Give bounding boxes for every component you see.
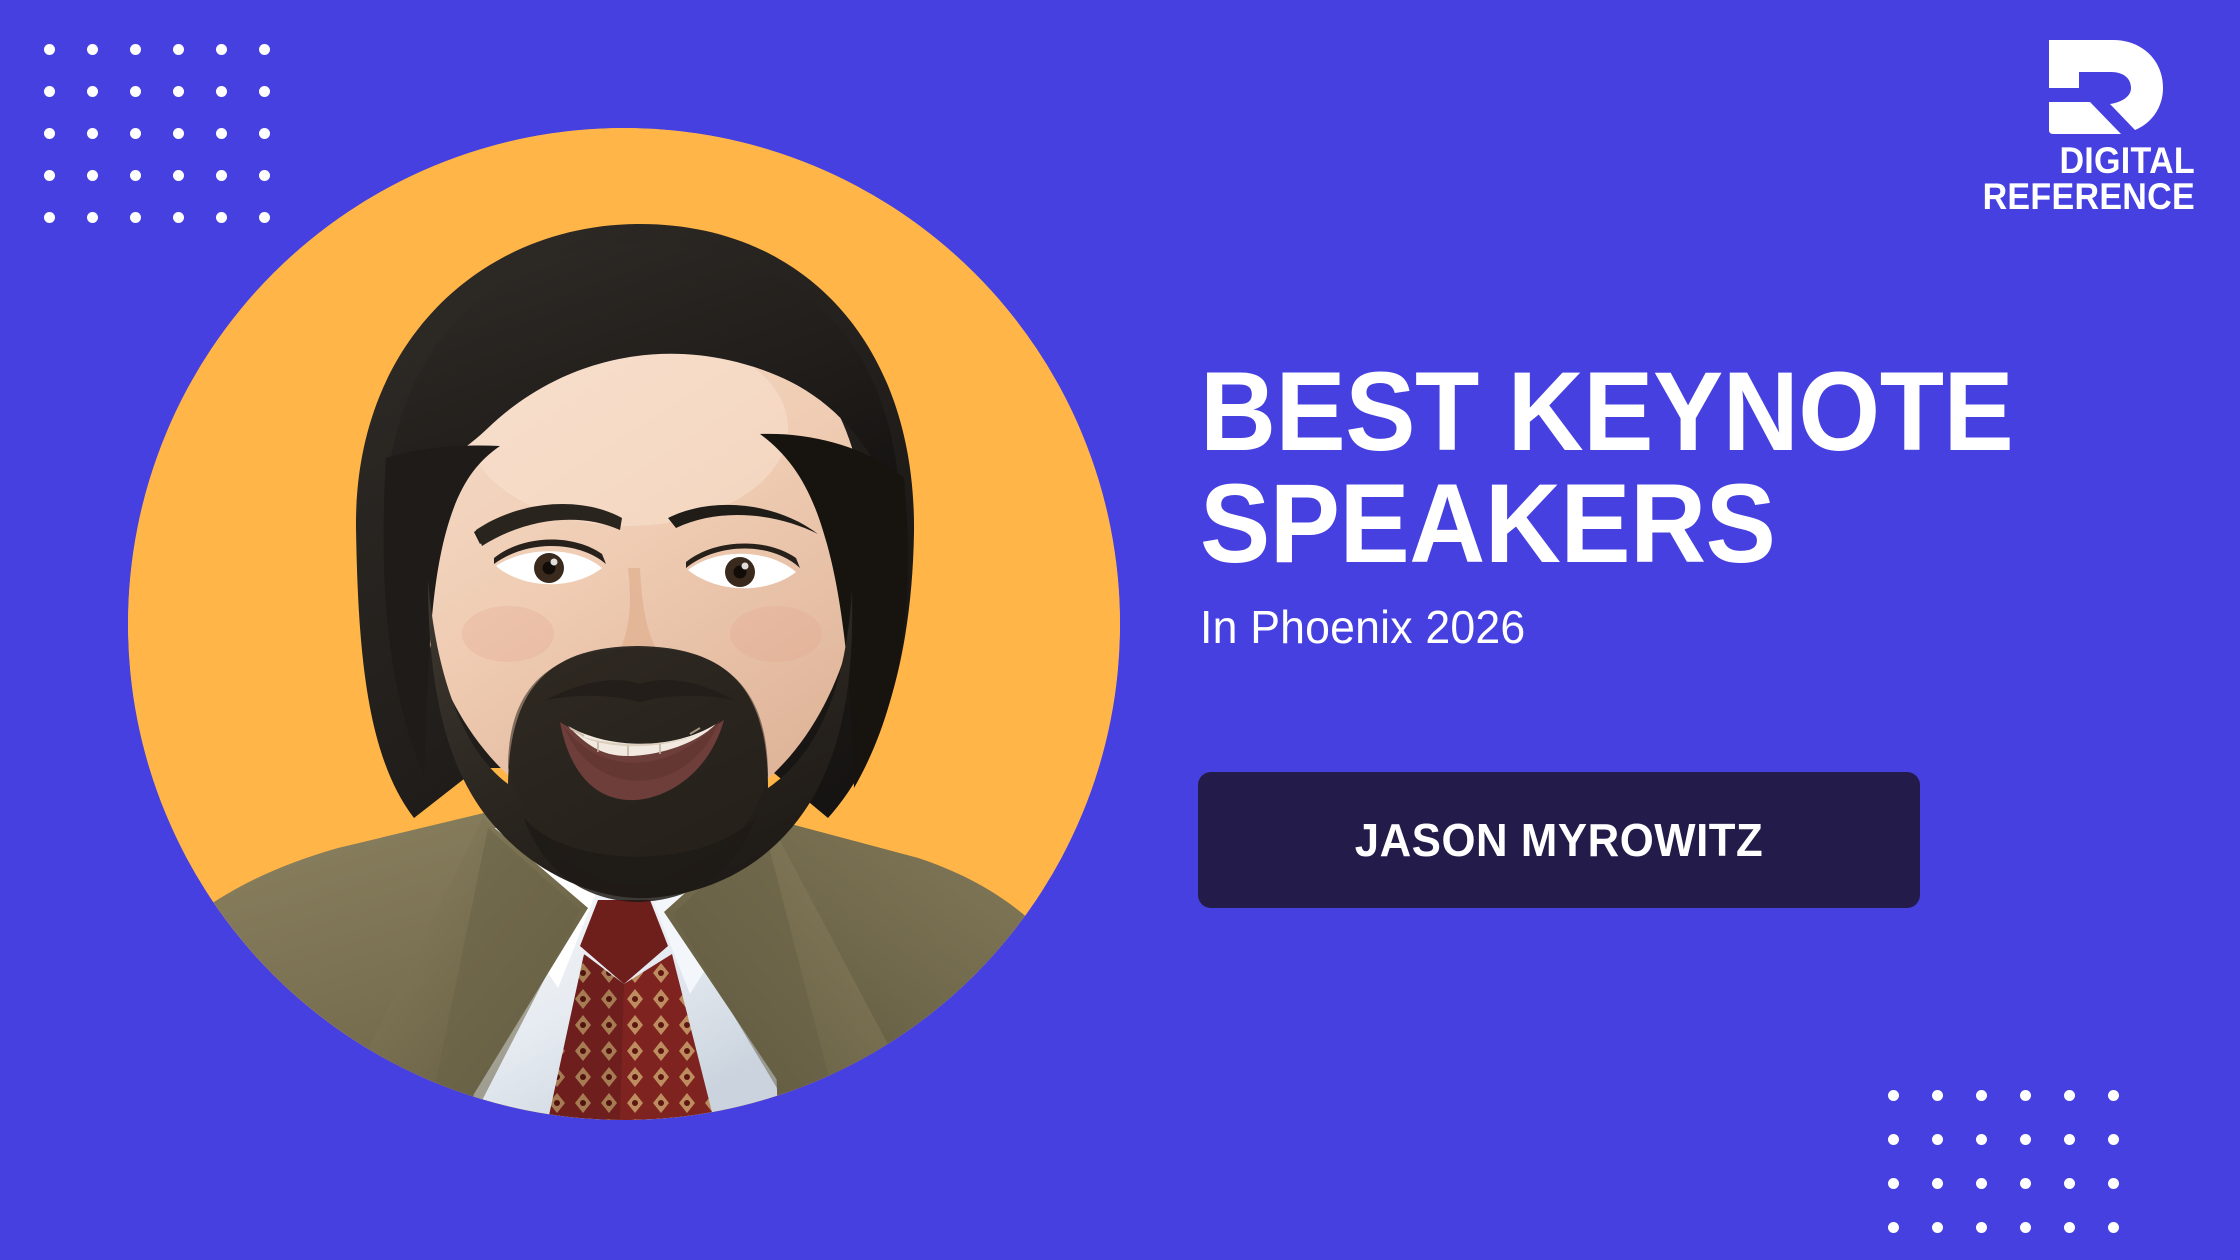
decorative-dot [87, 44, 98, 55]
decorative-dot [44, 44, 55, 55]
decorative-dot [2108, 1178, 2119, 1189]
decorative-dot [1976, 1222, 1987, 1233]
decorative-dot [2108, 1222, 2119, 1233]
speaker-name-badge[interactable]: JASON MYROWITZ [1198, 772, 1920, 908]
brand-wordmark-line-1: DIGITAL [2059, 140, 2195, 181]
decorative-dot [1888, 1090, 1899, 1101]
decorative-dot [259, 86, 270, 97]
decorative-dot [87, 86, 98, 97]
decorative-dot [44, 212, 55, 223]
decorative-dot [2108, 1134, 2119, 1145]
decorative-dot [1932, 1090, 1943, 1101]
brand-wordmark: DIGITAL REFERENCE [1965, 143, 2195, 215]
decorative-dot-grid-bottom-right [1888, 1090, 2152, 1260]
speaker-name-label: JASON MYROWITZ [1355, 813, 1764, 867]
decorative-dot [130, 44, 141, 55]
page-title: BEST KEYNOTE SPEAKERS [1200, 356, 2121, 580]
decorative-dot [2064, 1134, 2075, 1145]
brand-wordmark-line-2: REFERENCE [1965, 179, 2195, 215]
decorative-dot [1976, 1134, 1987, 1145]
decorative-dot [44, 170, 55, 181]
decorative-dot [2020, 1134, 2031, 1145]
decorative-dot [1932, 1222, 1943, 1233]
decorative-dot [2064, 1090, 2075, 1101]
decorative-dot [1888, 1134, 1899, 1145]
decorative-dot [2020, 1090, 2031, 1101]
decorative-dot [1932, 1178, 1943, 1189]
decorative-dot [2064, 1222, 2075, 1233]
decorative-dot [173, 44, 184, 55]
decorative-dot [2064, 1178, 2075, 1189]
decorative-dot [87, 128, 98, 139]
decorative-dot [2108, 1090, 2119, 1101]
brand-logo[interactable]: DIGITAL REFERENCE [1945, 38, 2195, 215]
decorative-dot [130, 86, 141, 97]
decorative-dot [44, 128, 55, 139]
decorative-dot [2020, 1222, 2031, 1233]
decorative-dot [1976, 1178, 1987, 1189]
decorative-dot [216, 86, 227, 97]
digital-reference-r-monogram-icon [2027, 38, 2167, 136]
headline-block: BEST KEYNOTE SPEAKERS In Phoenix 2026 [1200, 356, 2180, 653]
decorative-dot [2020, 1178, 2031, 1189]
speaker-portrait-illustration [128, 128, 1120, 1120]
decorative-dot [259, 44, 270, 55]
decorative-dot [216, 44, 227, 55]
decorative-dot [44, 86, 55, 97]
decorative-dot [1976, 1090, 1987, 1101]
decorative-dot [173, 86, 184, 97]
promo-banner: DIGITAL REFERENCE BEST KEYNOTE SPEAKERS … [0, 0, 2240, 1260]
decorative-dot [87, 212, 98, 223]
speaker-portrait [128, 128, 1120, 1120]
decorative-dot [1888, 1178, 1899, 1189]
page-subtitle: In Phoenix 2026 [1200, 580, 2151, 653]
decorative-dot [1888, 1222, 1899, 1233]
decorative-dot [87, 170, 98, 181]
decorative-dot [1932, 1134, 1943, 1145]
